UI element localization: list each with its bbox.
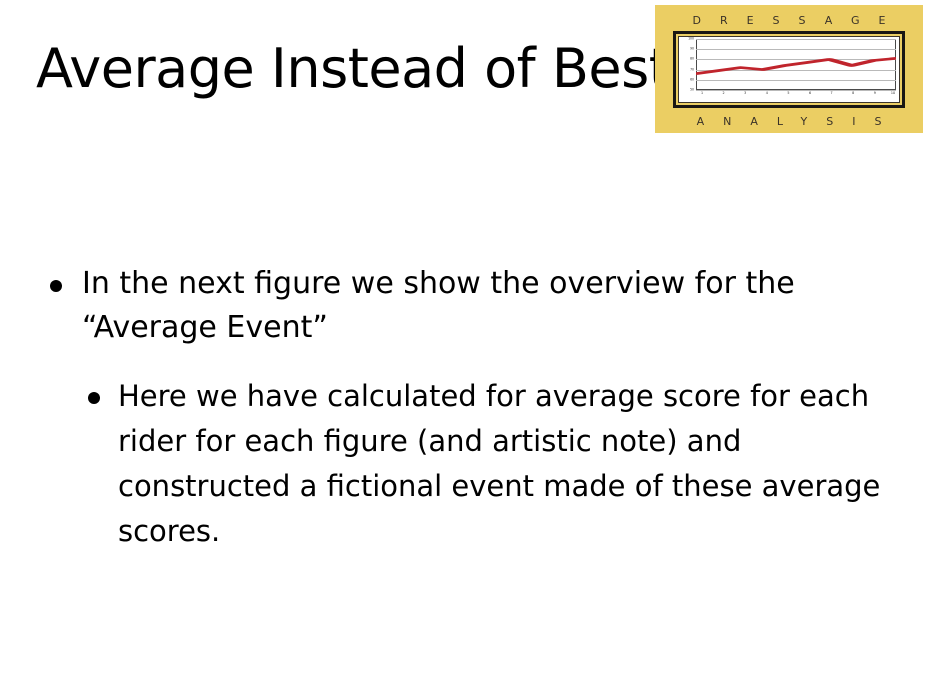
y-tick-label: 60 bbox=[690, 78, 694, 81]
x-tick-label: 7 bbox=[831, 91, 833, 95]
y-tick-label: 100 bbox=[688, 37, 694, 40]
chart-plot-area bbox=[696, 39, 896, 90]
logo-chart-inner: 100 90 80 70 60 50 bbox=[678, 36, 900, 103]
x-tick-label: 1 bbox=[701, 91, 703, 95]
x-tick-label: 5 bbox=[787, 91, 789, 95]
x-tick-label: 8 bbox=[852, 91, 854, 95]
chart-y-axis: 100 90 80 70 60 50 bbox=[679, 39, 695, 90]
logo-word-dressage: DRESSAGE bbox=[655, 14, 923, 27]
chart-x-axis: 1 2 3 4 5 6 7 8 9 10 bbox=[696, 91, 896, 100]
logo-chart-frame: 100 90 80 70 60 50 bbox=[673, 31, 905, 108]
x-tick-label: 2 bbox=[723, 91, 725, 95]
y-tick-label: 90 bbox=[690, 47, 694, 50]
slide-body: In the next figure we show the overview … bbox=[0, 262, 930, 554]
x-tick-label: 4 bbox=[766, 91, 768, 95]
x-tick-label: 10 bbox=[891, 91, 895, 95]
x-tick-label: 3 bbox=[744, 91, 746, 95]
page-title: Average Instead of Best bbox=[36, 36, 669, 102]
dressage-analysis-logo: DRESSAGE 100 90 80 70 60 50 bbox=[655, 5, 923, 133]
y-tick-label: 70 bbox=[690, 68, 694, 71]
logo-word-analysis: ANALYSIS bbox=[655, 115, 923, 128]
y-tick-label: 80 bbox=[690, 58, 694, 61]
x-tick-label: 9 bbox=[874, 91, 876, 95]
bullet-level-1: In the next figure we show the overview … bbox=[50, 262, 872, 350]
y-tick-label: 50 bbox=[690, 88, 694, 91]
bullet-level-2: Here we have calculated for average scor… bbox=[86, 374, 888, 554]
x-tick-label: 6 bbox=[809, 91, 811, 95]
chart-line-series bbox=[696, 39, 896, 90]
